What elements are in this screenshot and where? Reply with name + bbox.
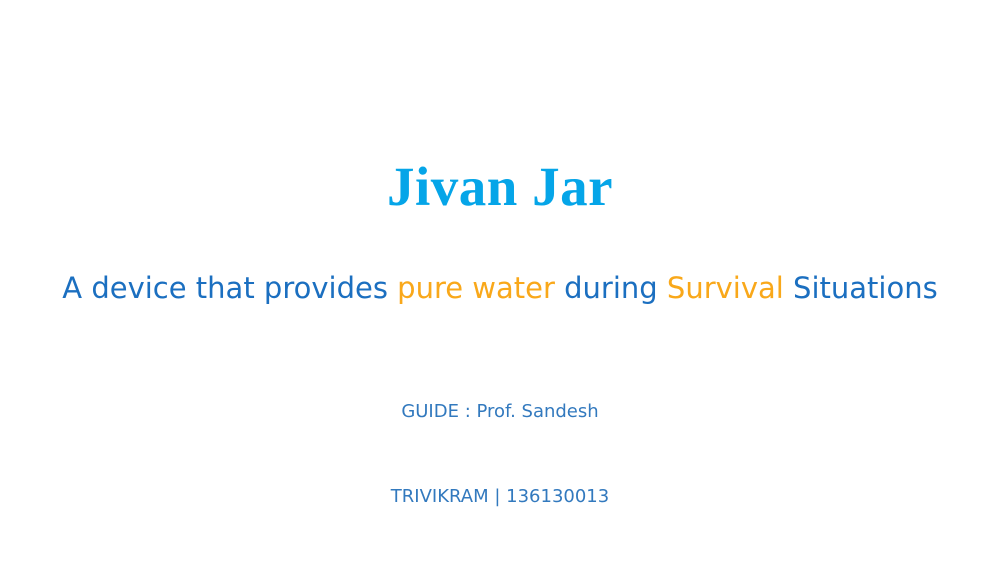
slide-subtitle: A device that provides pure water during… [0, 272, 1000, 305]
title-slide: Jivan Jar A device that provides pure wa… [0, 0, 1000, 562]
author-credit: TRIVIKRAM | 136130013 [0, 486, 1000, 508]
title-block: Jivan Jar [0, 158, 1000, 216]
guide-block: GUIDE : Prof. Sandesh [0, 401, 1000, 423]
credit-block: TRIVIKRAM | 136130013 [0, 486, 1000, 508]
subtitle-text-part-3: Situations [784, 271, 938, 305]
guide-label: GUIDE : Prof. Sandesh [0, 401, 1000, 423]
subtitle-highlight-pure-water: pure water [397, 271, 555, 305]
subtitle-text-part-2: during [555, 271, 667, 305]
page-title: Jivan Jar [0, 158, 1000, 216]
subtitle-text-part-1: A device that provides [62, 271, 397, 305]
subtitle-block: A device that provides pure water during… [0, 272, 1000, 305]
subtitle-highlight-survival: Survival [667, 271, 784, 305]
